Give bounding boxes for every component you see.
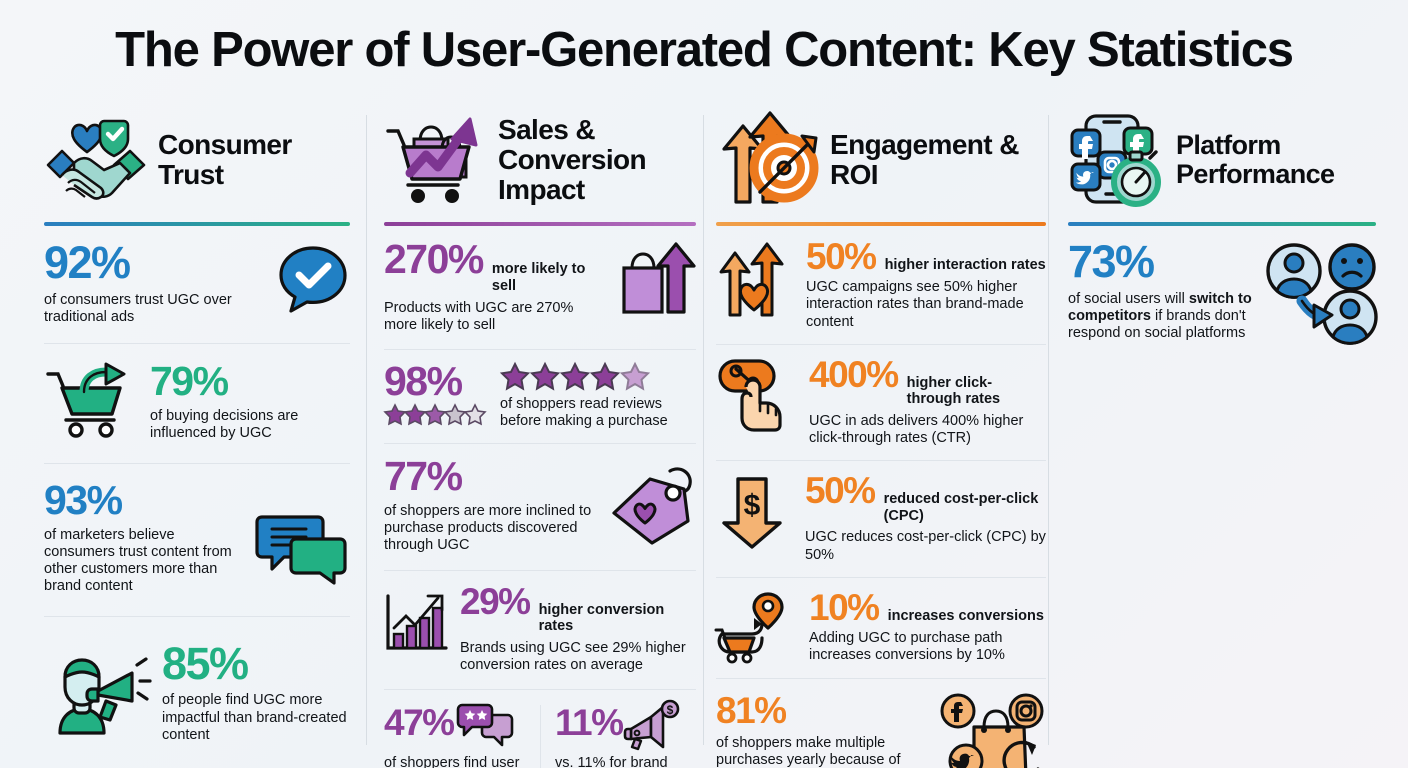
- stat-item: 10% increases conversions Adding UGC to …: [716, 577, 1046, 678]
- share-cart-icon: [44, 366, 136, 438]
- phone-social-stopwatch-icon: [1068, 112, 1166, 208]
- megaphone-dollar-icon: $: [625, 699, 679, 749]
- stat-value: 92%: [44, 242, 268, 285]
- social-shopping-bag-icon: [938, 693, 1046, 768]
- stat-item: 92% of consumers trust UGC over traditio…: [44, 226, 350, 343]
- stat-description: UGC reduces cost-per-click (CPC) by 50%: [805, 529, 1046, 564]
- person-megaphone-icon: [44, 651, 150, 737]
- section-title: Platform Performance: [1176, 131, 1376, 188]
- stat-item: 85% of people find UGC more impactful th…: [44, 616, 350, 756]
- page-title: The Power of User-Generated Content: Key…: [0, 22, 1408, 78]
- stat-lede: higher interaction rates: [885, 257, 1046, 274]
- stat-description: of shoppers are more inclined to purchas…: [384, 503, 602, 555]
- stat-item: 79% of buying decisions are influenced b…: [44, 343, 350, 462]
- stat-item: 50% higher interaction rates UGC campaig…: [716, 226, 1046, 344]
- stat-description: of shoppers make multiple purchases year…: [716, 735, 916, 768]
- section-title: Sales & Conversion Impact: [498, 115, 696, 204]
- bar-chart-up-icon: [384, 592, 448, 654]
- section-header: Sales & Conversion Impact: [384, 108, 696, 212]
- stat-value: 400%: [809, 357, 898, 392]
- chat-bubbles-icon: [254, 509, 350, 583]
- user-switch-icon: [1264, 243, 1376, 343]
- stat-description: of people find UGC more impactful than b…: [162, 692, 350, 744]
- section-engagement-roi: Engagement & ROI 50% higher interaction …: [716, 108, 1046, 768]
- section-header: Engagement & ROI: [716, 108, 1046, 212]
- stat-item: 73% of social users will switch to compe…: [1068, 226, 1376, 354]
- column-divider: [703, 115, 704, 745]
- column-divider: [366, 115, 367, 745]
- section-title: Engagement & ROI: [830, 130, 1046, 189]
- stat-description: of consumers trust UGC over traditional …: [44, 292, 268, 327]
- shopping-cart-growth-icon: [384, 113, 488, 207]
- stat-description: of shoppers find user reviews most influ…: [384, 755, 530, 768]
- stat-value: 77%: [384, 457, 602, 496]
- stat-value: 50%: [805, 473, 875, 508]
- stat-item: 270% more likely to sell Products with U…: [384, 226, 696, 349]
- check-speech-bubble-icon: [276, 244, 350, 316]
- stat-value: 81%: [716, 693, 930, 728]
- stat-lede: reduced cost-per-click (CPC): [884, 491, 1046, 524]
- section-consumer-trust: Consumer Trust 92% of consumers trust UG…: [44, 108, 350, 755]
- price-tag-heart-icon: [610, 463, 696, 547]
- handshake-trust-icon: [44, 117, 148, 203]
- stat-description: of shoppers read reviews before making a…: [500, 396, 696, 431]
- stat-item: 29% higher conversion rates Brands using…: [384, 570, 696, 690]
- stat-value: 85%: [162, 643, 350, 686]
- stat-value: 93%: [44, 481, 246, 520]
- cart-path-pin-icon: [716, 594, 796, 664]
- svg-text:$: $: [744, 489, 761, 522]
- stat-description: of buying decisions are influenced by UG…: [150, 408, 350, 443]
- infographic-canvas: The Power of User-Generated Content: Key…: [0, 0, 1408, 768]
- star-rating-icon: [500, 362, 696, 390]
- star-rating-icon: [384, 403, 488, 425]
- stat-description: of marketers believe consumers trust con…: [44, 527, 244, 596]
- section-sales-conversion-impact: Sales & Conversion Impact 270% more like…: [384, 108, 696, 768]
- stat-description: of social users will switch to competito…: [1068, 291, 1256, 343]
- stat-item: 93% of marketers believe consumers trust…: [44, 463, 350, 616]
- stat-item-split: 47% of shoppers find user reviews most i…: [384, 689, 696, 768]
- dollar-down-arrow-icon: $: [716, 475, 792, 549]
- stat-item: 98%: [384, 349, 696, 444]
- stat-description: Brands using UGC see 29% higher conversi…: [460, 640, 696, 675]
- stat-description: vs. 11% for brand content: [555, 755, 696, 768]
- column-divider: [1048, 115, 1049, 745]
- section-header: Consumer Trust: [44, 108, 350, 212]
- stat-value: 98%: [384, 362, 488, 401]
- svg-text:$: $: [666, 703, 673, 717]
- percent-click-icon: [716, 357, 796, 431]
- stat-lede: more likely to sell: [492, 261, 606, 294]
- section-header: Platform Performance: [1068, 108, 1376, 212]
- stat-item: 47% of shoppers find user reviews most i…: [384, 705, 540, 768]
- arrows-heart-icon: [716, 241, 792, 317]
- shopping-bag-up-arrow-icon: [614, 242, 696, 318]
- stat-value: 29%: [460, 584, 530, 619]
- stat-value: 10%: [809, 590, 879, 625]
- stat-lede: higher conversion rates: [539, 602, 696, 635]
- stat-description: Adding UGC to purchase path increases co…: [809, 630, 1046, 665]
- stat-value: 270%: [384, 240, 483, 279]
- stat-item: 11% $: [540, 705, 696, 768]
- stat-description: UGC campaigns see 50% higher interaction…: [806, 279, 1046, 331]
- stat-value: 79%: [150, 362, 350, 401]
- stat-description: UGC in ads delivers 400% higher click-th…: [809, 413, 1046, 448]
- section-title: Consumer Trust: [158, 130, 350, 189]
- stat-lede: higher click-through rates: [907, 375, 1046, 408]
- stat-value: 11%: [555, 705, 623, 740]
- stat-value: 50%: [806, 239, 876, 274]
- stat-item: 77% of shoppers are more inclined to pur…: [384, 443, 696, 570]
- review-bubble-stars-icon: [456, 703, 514, 749]
- stat-value: 73%: [1068, 241, 1256, 284]
- stat-item: 81% of shoppers make multiple purchases …: [716, 678, 1046, 768]
- section-platform-performance: Platform Performance 73% of social users…: [1068, 108, 1376, 354]
- stat-lede: increases conversions: [888, 608, 1044, 625]
- stat-item: $ 50% reduced cost-per-click (CPC) UGC r…: [716, 460, 1046, 577]
- target-arrows-up-icon: [716, 114, 820, 206]
- stat-value: 47%: [384, 705, 454, 740]
- stat-description: Products with UGC are 270% more likely t…: [384, 300, 602, 335]
- desc-pre: of social users will: [1068, 291, 1189, 307]
- stat-item: 400% higher click-through rates UGC in a…: [716, 344, 1046, 461]
